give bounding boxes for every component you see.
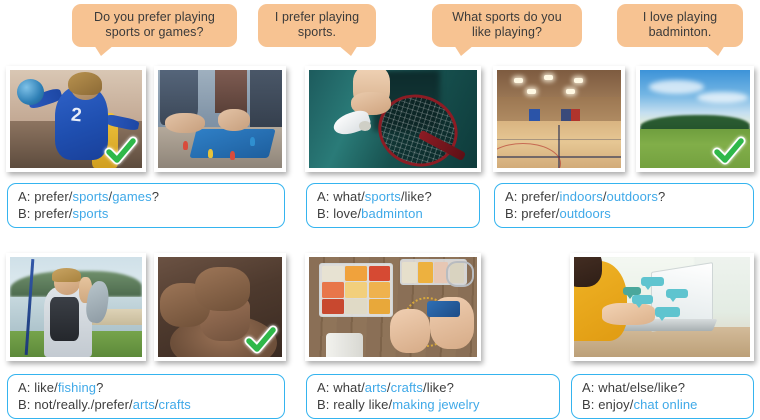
bead-cell [418,262,432,283]
ceiling-light [544,75,553,80]
scene-hand-left [165,113,205,133]
scene-hand-left [390,309,430,353]
photo-fishing-boy[interactable] [6,253,146,361]
caption-word: what [333,380,361,395]
game-pawn [250,137,255,146]
caption-line-b: B: really like/making jewelry [317,397,550,414]
caption-indoors-outdoors: A: prefer/indoors/outdoors? B: prefer/ou… [494,183,754,228]
scene-person-mid [215,70,247,113]
caption-line-b: B: enjoy/chat online [582,397,744,414]
caption-keyword: crafts [159,397,191,412]
caption-word: like [427,380,447,395]
caption-fishing-crafts: A: like/fishing? B: not/really./prefer/a… [7,374,285,419]
caption-line-a: A: what/sports/like? [317,189,470,206]
caption-word: love [333,206,357,221]
jersey-number: 2 [70,105,82,128]
photo-inner [309,257,477,357]
bead-cell [369,266,391,281]
caption-line-b: B: prefer/outdoors [505,206,744,223]
caption-word: ? [658,189,665,204]
caption-keyword: outdoors [607,189,658,204]
bubble-tail [705,45,725,56]
caption-keyword: sports [365,189,401,204]
caption-word: prefer [521,189,556,204]
ceiling-light [527,89,536,94]
photo-inner [309,70,477,168]
wall-panel-blue [529,109,540,121]
scene-boy-hair [52,268,81,282]
scene-person-right [250,70,282,131]
caption-line-a: A: like/fishing? [18,380,275,397]
bead-cell [345,282,367,297]
ceiling-light [574,78,583,83]
photo-badminton[interactable] [305,66,481,172]
court-line [497,139,621,141]
wall-panel-red [571,109,580,121]
bubble-tail [454,45,474,56]
caption-word: like [658,380,678,395]
chat-bubble-icon [666,289,689,298]
bead-cell [402,262,416,283]
caption-what-else: A: what/else/like? B: enjoy/chat online [571,374,754,419]
scene-ceiling [497,70,621,99]
game-pawn [208,149,213,158]
caption-speaker: A: [582,380,598,395]
bubble-tail [94,45,114,56]
caption-word: like [34,380,54,395]
caption-keyword: fishing [58,380,96,395]
bubble-text: What sports do you like playing? [452,10,562,39]
photo-inner [574,257,750,357]
caption-speaker: B: [18,206,34,221]
checkmark-icon [244,325,278,355]
caption-speaker: A: [317,189,333,204]
wall-panel-dark [561,109,571,121]
caption-word: prefer [34,189,69,204]
bead-cell [322,282,344,297]
caption-keyword: badminton [361,206,423,221]
caption-arts-crafts: A: what/arts/crafts/like? B: really like… [306,374,560,419]
photo-inner [640,70,750,168]
bead-organizer-box [319,263,393,317]
caption-word: enjoy [598,397,630,412]
ceiling-light [514,78,523,83]
checkmark-icon [712,136,746,166]
backpack-strap [50,297,79,341]
caption-speaker: A: [505,189,521,204]
shuttlecock-cork [359,121,371,131]
ceiling-light [566,89,575,94]
caption-line-b: B: not/really./prefer/arts/crafts [18,397,275,414]
caption-what-sports: A: what/sports/like? B: love/badminton [306,183,480,228]
photo-pottery[interactable] [154,253,286,361]
bead-cell [345,299,367,314]
caption-word: else [630,380,654,395]
caption-line-a: A: what/else/like? [582,380,744,397]
checkmark-icon [104,136,138,166]
photo-inner [497,70,621,168]
caption-word: what [333,189,361,204]
caption-keyword: sports [72,189,108,204]
caption-keyword: games [112,189,152,204]
caption-keyword: chat online [634,397,698,412]
caption-speaker: B: [317,206,333,221]
bead-cell [322,299,344,314]
caption-keyword: outdoors [559,206,610,221]
caption-word: not [34,397,52,412]
photo-chat-online[interactable] [570,253,754,361]
game-pawn [183,141,188,150]
photo-making-jewelry[interactable] [305,253,481,361]
speech-bubble-question-what-sports: What sports do you like playing? [432,4,582,47]
photo-indoor-gym[interactable] [493,66,625,172]
game-pawn [230,151,235,160]
speech-bubble-question-sports-or-games: Do you prefer playing sports or games? [72,4,237,47]
caption-keyword: crafts [391,380,423,395]
bead-cell [322,266,344,281]
caption-speaker: A: [18,380,34,395]
chat-bubble-icon [632,295,653,304]
caption-word: prefer [521,206,556,221]
caption-line-a: A: prefer/indoors/outdoors? [505,189,744,206]
scissors [446,261,474,287]
caption-word: what [598,380,626,395]
pliers-tool [427,301,461,317]
photo-board-game[interactable] [154,66,286,172]
bead-cell [369,282,391,297]
caption-word: ? [447,380,454,395]
photo-inner [158,70,282,168]
caption-word: ? [96,380,103,395]
speech-bubble-answer-prefer-sports: I prefer playing sports. [258,4,376,47]
scene-wall [497,97,621,122]
caption-word: ? [424,189,431,204]
caption-speaker: B: [505,206,521,221]
caption-line-a: A: what/arts/crafts/like? [317,380,550,397]
thread-spool [326,333,363,357]
bead-cell [369,299,391,314]
photo-inner: 2 [10,70,142,168]
caption-speaker: B: [582,397,598,412]
scene-hair [68,72,102,96]
caption-word: prefer [94,397,129,412]
bubble-text: I love playing badminton. [643,10,717,39]
bubble-text: Do you prefer playing sports or games? [94,10,215,39]
chat-bubble-icon [641,277,664,286]
caption-keyword: indoors [559,189,602,204]
caption-speaker: B: [18,397,34,412]
bubble-text: I prefer playing sports. [275,10,359,39]
chat-bubble-icon [623,287,641,295]
caption-speaker: A: [18,189,34,204]
caption-keyword: making jewelry [392,397,479,412]
caption-keyword: arts [133,397,155,412]
caption-word: really. [56,397,90,412]
caption-keyword: arts [365,380,387,395]
caption-word: like [405,189,425,204]
caption-line-b: B: love/badminton [317,206,470,223]
scene-hand-right [218,109,250,131]
caption-word: ? [678,380,685,395]
caption-word: ? [152,189,159,204]
caption-sports-games: A: prefer/sports/games? B: prefer/sports [7,183,285,228]
cloud [697,92,748,104]
caption-word: really like [333,397,388,412]
chat-bubble-icon [655,307,680,317]
cloud [649,80,704,94]
caption-speaker: B: [317,397,333,412]
caption-speaker: A: [317,380,333,395]
caption-keyword: sports [72,206,108,221]
caption-line-a: A: prefer/sports/games? [18,189,275,206]
photo-inner [10,257,142,357]
scene-hand-right [195,267,250,311]
photo-outdoor-field[interactable] [636,66,754,172]
caption-word: prefer [34,206,69,221]
bubble-tail [338,45,358,56]
photo-inner [158,257,282,357]
photo-handball-player[interactable]: 2 [6,66,146,172]
caption-line-b: B: prefer/sports [18,206,275,223]
scene-person-arm [602,303,655,325]
speech-bubble-answer-love-badminton: I love playing badminton. [617,4,743,47]
bead-cell [345,266,367,281]
